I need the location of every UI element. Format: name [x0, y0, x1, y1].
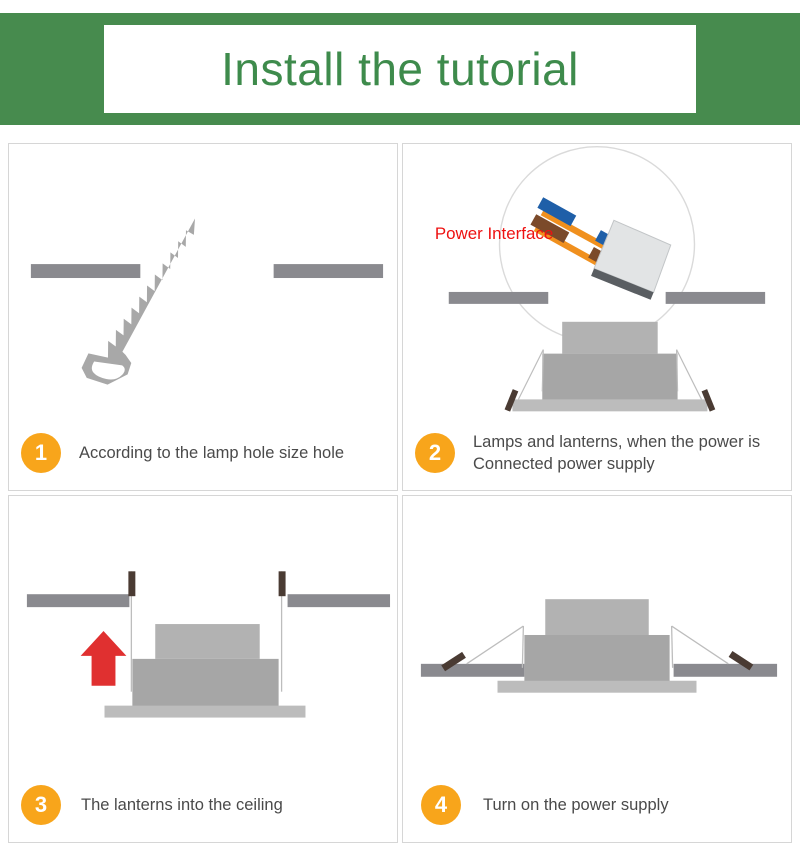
- clip-tip-left: [128, 571, 135, 596]
- ceiling-bar-right: [674, 664, 777, 677]
- step-4-caption: Turn on the power supply: [483, 794, 669, 816]
- downlight-fixture: [105, 571, 306, 717]
- steps-grid: 1 According to the lamp hole size hole: [8, 143, 792, 843]
- up-arrow-icon: [81, 631, 127, 686]
- step-badge-4: 4: [421, 785, 461, 825]
- downlight-fixture: [505, 322, 716, 412]
- step-3-caption-line-1: The lanterns into the ceiling: [81, 794, 283, 816]
- downlight-fixture: [441, 599, 753, 693]
- hand-saw-icon: [79, 199, 199, 395]
- step-badge-1: 1: [21, 433, 61, 473]
- step-4-illustration: [403, 496, 791, 771]
- step-1-caption: According to the lamp hole size hole: [79, 442, 344, 464]
- fixture-body: [132, 659, 278, 709]
- ceiling-bar-right: [274, 264, 383, 278]
- ceiling-bar-right: [666, 292, 765, 304]
- step-1-caption-line-1: According to the lamp hole size hole: [79, 442, 344, 464]
- step-4-caption-row: 4 Turn on the power supply: [403, 778, 791, 832]
- step-3-caption: The lanterns into the ceiling: [81, 794, 283, 816]
- clip-tip-right: [279, 571, 286, 596]
- page-title: Install the tutorial: [221, 46, 579, 92]
- fixture-driver-box: [562, 322, 658, 354]
- step-1-illustration: [9, 144, 397, 419]
- spring-clip-right: [279, 571, 286, 691]
- fixture-body: [524, 635, 669, 683]
- spring-clip-right: [672, 626, 754, 670]
- fixture-base-plate: [512, 399, 707, 411]
- step-2-caption: Lamps and lanterns, when the power is Co…: [473, 431, 760, 476]
- ceiling-bar-right: [288, 594, 390, 607]
- ceiling-bar-left: [421, 664, 524, 677]
- step-badge-3: 3: [21, 785, 61, 825]
- step-badge-2: 2: [415, 433, 455, 473]
- step-3-illustration: [9, 496, 397, 771]
- step-panel-2: Power Interface: [402, 143, 792, 491]
- ceiling-bar-left: [27, 594, 129, 607]
- fixture-driver-box: [545, 599, 648, 635]
- step-3-caption-row: 3 The lanterns into the ceiling: [9, 778, 397, 832]
- step-2-caption-line-2: Connected power supply: [473, 453, 760, 475]
- step-2-illustration: Power Interface: [403, 144, 791, 419]
- step-panel-1: 1 According to the lamp hole size hole: [8, 143, 398, 491]
- step-2-caption-line-1: Lamps and lanterns, when the power is: [473, 431, 760, 453]
- step-2-caption-row: 2 Lamps and lanterns, when the power is …: [403, 426, 791, 480]
- step-1-caption-row: 1 According to the lamp hole size hole: [9, 426, 397, 480]
- header-title-box: Install the tutorial: [104, 25, 696, 113]
- step-4-caption-line-1: Turn on the power supply: [483, 794, 669, 816]
- tutorial-infographic: Install the tutorial 1: [0, 0, 800, 852]
- ceiling-bar-left: [31, 264, 140, 278]
- step-panel-4: 4 Turn on the power supply: [402, 495, 792, 843]
- power-interface-label: Power Interface: [435, 224, 553, 243]
- ceiling-bar-left: [449, 292, 548, 304]
- fixture-base-plate: [105, 706, 306, 718]
- fixture-body: [542, 354, 677, 402]
- fixture-base-plate: [498, 681, 697, 693]
- fixture-driver-box: [155, 624, 259, 659]
- step-panel-3: 3 The lanterns into the ceiling: [8, 495, 398, 843]
- header-band: Install the tutorial: [0, 13, 800, 125]
